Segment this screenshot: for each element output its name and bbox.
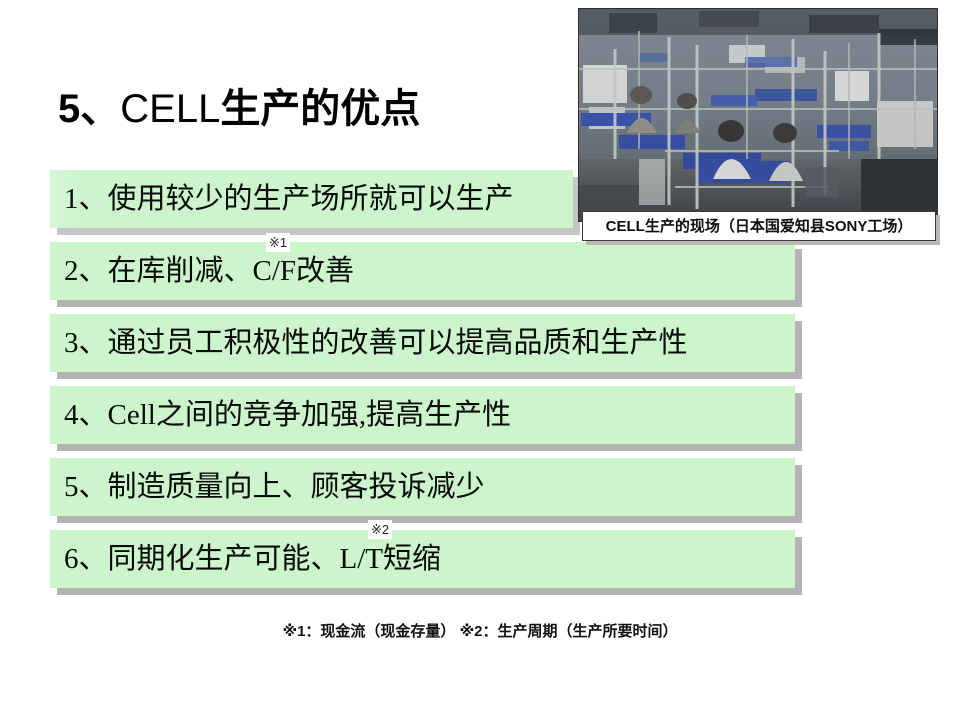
footnote-marker-2: ※2 [368, 520, 392, 539]
bullet-bar-1-label: 1、使用较少的生产场所就可以生产 [64, 170, 514, 228]
bullet-bar-5-label: 5、制造质量向上、顾客投诉减少 [64, 458, 485, 516]
photo-caption-text: CELL生产的现场（日本国爱知县SONY工场） [606, 217, 913, 236]
photo-caption-box: CELL生产的现场（日本国爱知县SONY工场） [582, 211, 936, 241]
slide-root: 5、CELL生产的优点 1、使用较少的生产场所就可以生产 2、在库削减、C/F改… [0, 0, 960, 720]
factory-photo [578, 8, 938, 222]
bullet-bar-4[interactable]: 4、Cell之间的竞争加强,提高生产性 [50, 386, 795, 444]
bullet-bar-1[interactable]: 1、使用较少的生产场所就可以生产 [50, 170, 573, 228]
footnote-marker-1: ※1 [266, 233, 290, 252]
bullet-bar-5[interactable]: 5、制造质量向上、顾客投诉减少 [50, 458, 795, 516]
bullet-bar-3[interactable]: 3、通过员工积极性的改善可以提高品质和生产性 [50, 314, 795, 372]
bullet-bar-2[interactable]: 2、在库削减、C/F改善 [50, 242, 795, 300]
bullet-bar-2-label: 2、在库削减、C/F改善 [64, 242, 354, 300]
bullet-bar-3-label: 3、通过员工积极性的改善可以提高品质和生产性 [64, 314, 688, 372]
bullet-bar-6[interactable]: 6、同期化生产可能、L/T短缩 [50, 530, 795, 588]
footnote-text: ※1：现金流（现金存量） ※2：生产周期（生产所要时间） [0, 622, 960, 642]
bullet-bar-4-label: 4、Cell之间的竞争加强,提高生产性 [64, 386, 511, 444]
factory-photo-image [579, 9, 937, 221]
